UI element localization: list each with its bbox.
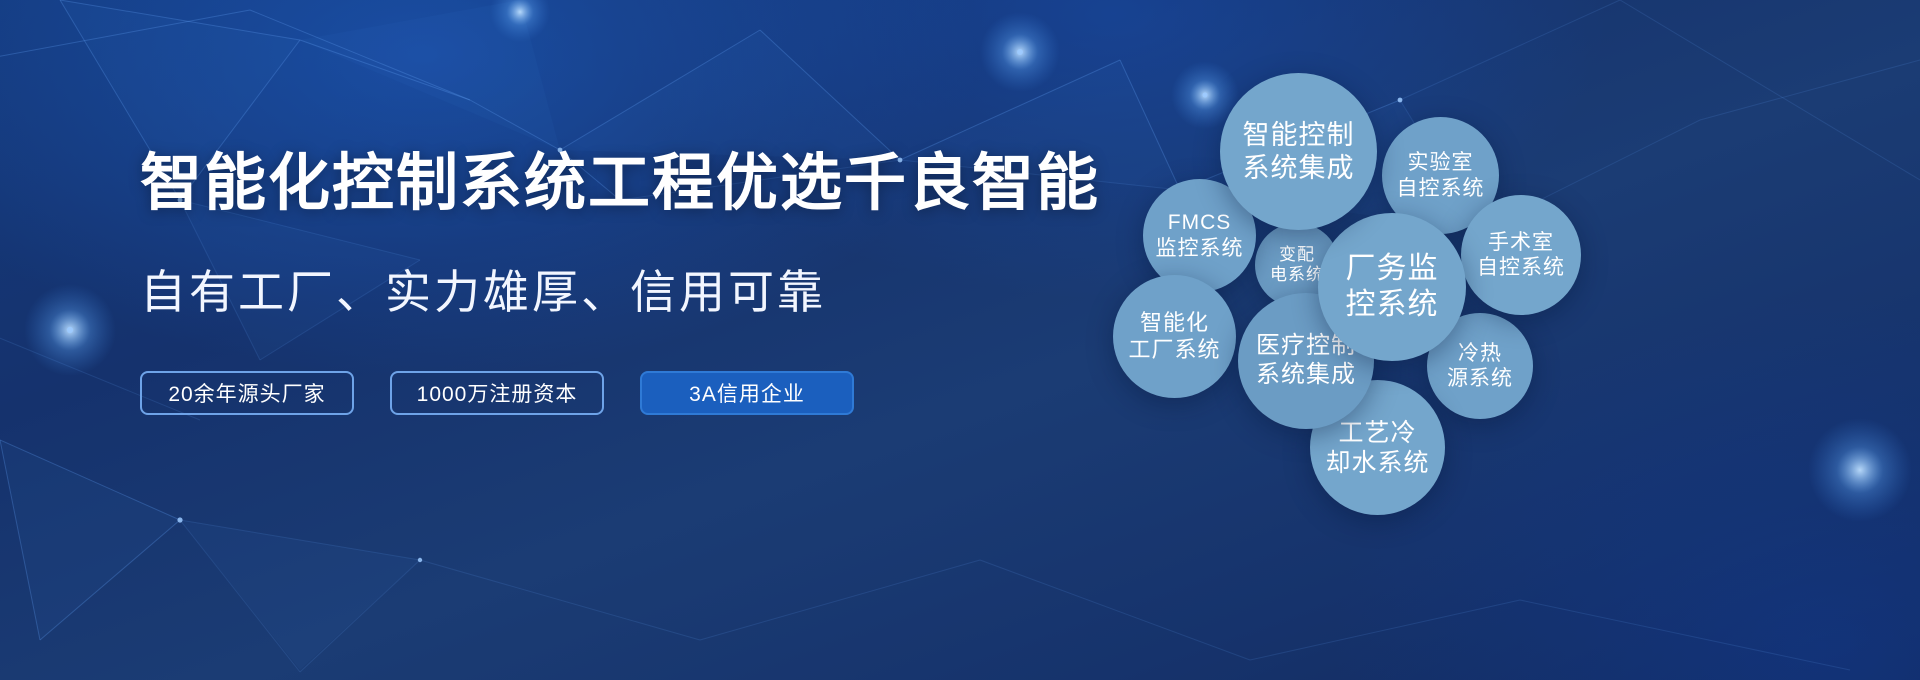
bubble-line-2: 系统集成 xyxy=(1256,361,1356,390)
bubble-intelligent-control-system-integration[interactable]: 智能控制 系统集成 xyxy=(1220,73,1377,230)
bubble-line-1: 厂务监 xyxy=(1346,251,1439,287)
bubble-line-2: 监控系统 xyxy=(1156,236,1244,261)
badge-capital[interactable]: 1000万注册资本 xyxy=(390,371,604,415)
bubble-line-1: 实验室 xyxy=(1408,150,1474,175)
service-bubble-cluster: 智能控制 系统集成 实验室 自控系统 FMCS 监控系统 变配 电系统 手术室 … xyxy=(1150,60,1920,620)
bubble-line-1: FMCS xyxy=(1168,210,1232,235)
bubble-line-2: 源系统 xyxy=(1447,366,1513,391)
bubble-line-2: 工厂系统 xyxy=(1128,337,1220,363)
bubble-line-1: 智能化 xyxy=(1140,310,1209,336)
bubble-line-2: 系统集成 xyxy=(1243,152,1355,184)
bubble-line-2: 电系统 xyxy=(1270,265,1324,285)
page-title: 智能化控制系统工程优选千良智能 xyxy=(140,150,1040,218)
bubble-intelligent-factory-system[interactable]: 智能化 工厂系统 xyxy=(1113,275,1236,398)
badge-credit-rating[interactable]: 3A信用企业 xyxy=(640,371,854,415)
bubble-line-1: 冷热 xyxy=(1458,341,1502,366)
bubble-line-2: 自控系统 xyxy=(1397,176,1485,201)
bubble-line-1: 智能控制 xyxy=(1243,119,1355,151)
bubble-plant-monitoring-control-system[interactable]: 厂务监 控系统 xyxy=(1318,213,1466,361)
bubble-line-2: 自控系统 xyxy=(1477,255,1565,280)
banner-copy: 智能化控制系统工程优选千良智能 自有工厂、实力雄厚、信用可靠 20余年源头厂家 … xyxy=(140,150,1040,415)
bubble-line-1: 工艺冷 xyxy=(1338,418,1416,448)
bubble-operating-room-automatic-control-system[interactable]: 手术室 自控系统 xyxy=(1461,195,1581,315)
bubble-line-1: 手术室 xyxy=(1488,230,1554,255)
badge-list: 20余年源头厂家 1000万注册资本 3A信用企业 xyxy=(140,371,1040,415)
hero-banner: 智能化控制系统工程优选千良智能 自有工厂、实力雄厚、信用可靠 20余年源头厂家 … xyxy=(0,0,1920,680)
bubble-line-2: 却水系统 xyxy=(1325,448,1429,478)
bubble-line-1: 变配 xyxy=(1279,245,1315,265)
bubble-line-2: 控系统 xyxy=(1346,287,1439,323)
badge-years[interactable]: 20余年源头厂家 xyxy=(140,371,354,415)
banner-subtitle: 自有工厂、实力雄厚、信用可靠 xyxy=(140,266,1040,319)
